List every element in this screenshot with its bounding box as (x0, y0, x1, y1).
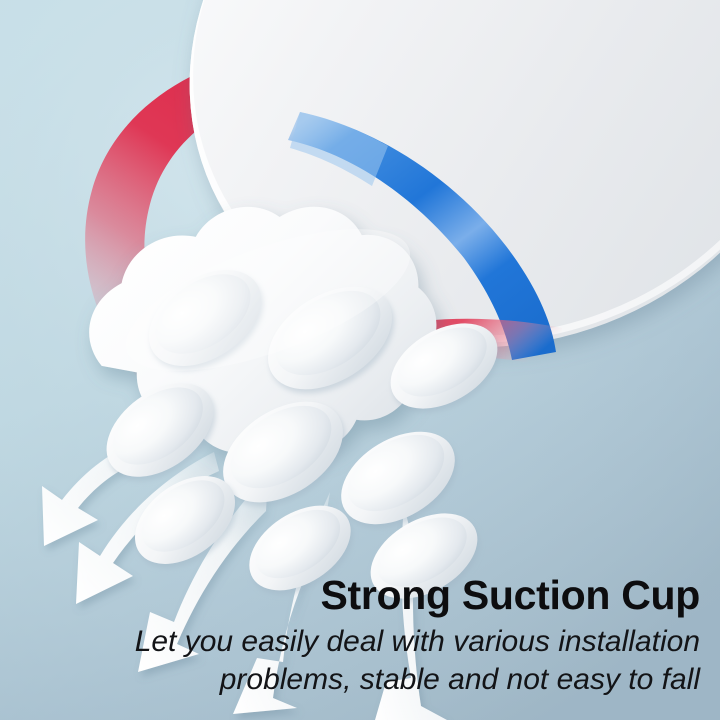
product-feature-image: Strong Suction Cup Let you easily deal w… (0, 0, 720, 720)
suction-cup-array (0, 0, 720, 720)
